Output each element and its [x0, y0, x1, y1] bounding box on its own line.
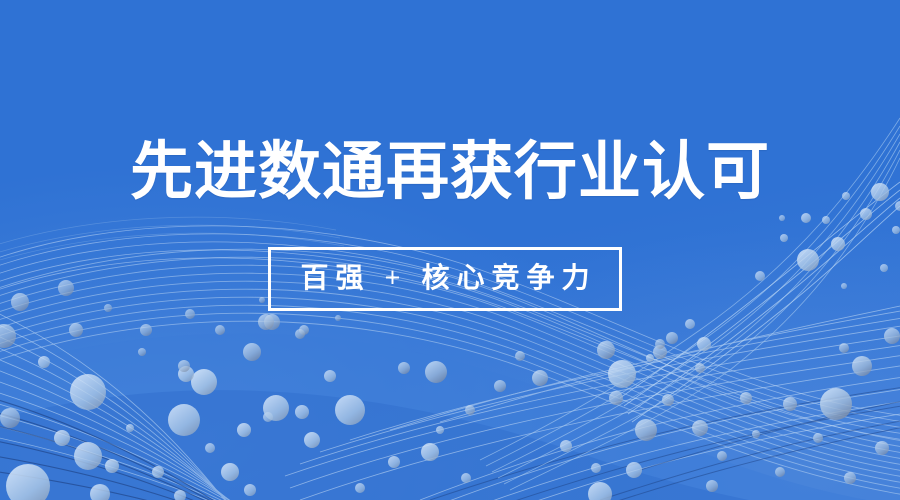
subtitle-badge: 百强 + 核心竞争力: [268, 247, 622, 311]
banner-content: 先进数通再获行业认可 百强 + 核心竞争力: [0, 0, 900, 500]
promo-banner: 先进数通再获行业认可 百强 + 核心竞争力: [0, 0, 900, 500]
subtitle-text: 百强 + 核心竞争力: [294, 263, 597, 295]
page-title: 先进数通再获行业认可: [0, 136, 900, 208]
